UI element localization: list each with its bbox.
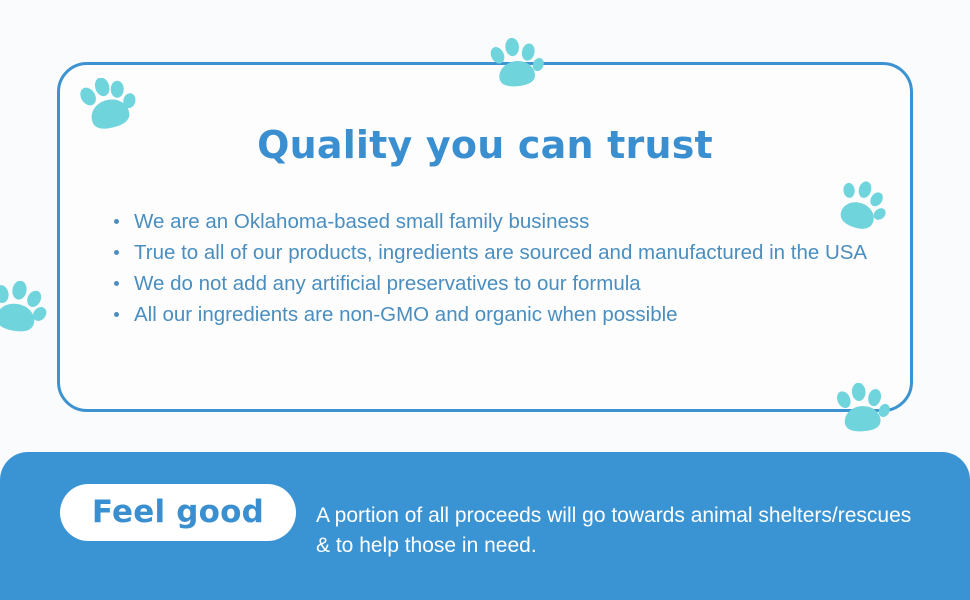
list-item: We do not add any artificial preservativ…	[112, 268, 880, 299]
feel-good-banner: Feel good A portion of all proceeds will…	[0, 452, 970, 600]
quality-trust-card: Quality you can trust We are an Oklahoma…	[57, 62, 913, 412]
list-item: True to all of our products, ingredients…	[112, 237, 880, 268]
feel-good-label: Feel good	[92, 497, 264, 528]
feel-good-pill: Feel good	[60, 484, 296, 541]
list-item: We are an Oklahoma-based small family bu…	[112, 206, 880, 237]
trust-bullet-list: We are an Oklahoma-based small family bu…	[112, 206, 880, 330]
list-item: All our ingredients are non-GMO and orga…	[112, 299, 880, 330]
paw-print-icon	[0, 281, 50, 339]
page-title: Quality you can trust	[60, 126, 910, 164]
banner-description: A portion of all proceeds will go toward…	[316, 501, 916, 561]
infographic-canvas: Quality you can trust We are an Oklahoma…	[0, 0, 970, 600]
